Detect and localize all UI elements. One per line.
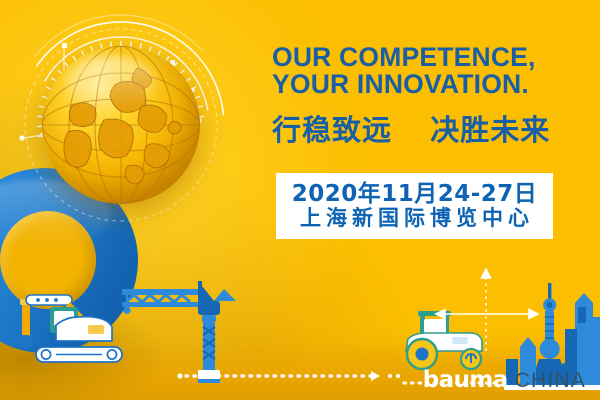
- logo-bauma-text: bauma: [423, 367, 508, 393]
- road-roller-icon: [406, 311, 482, 369]
- date-venue-box: 2020年11月24-27日 上海新国际博览中心: [276, 173, 553, 239]
- globe-sphere: [42, 46, 200, 204]
- globe-gloss: [67, 57, 155, 111]
- headline-block: OUR COMPETENCE, YOUR INNOVATION. 行稳致远 决胜…: [272, 44, 582, 149]
- tower-crane-icon: [122, 281, 236, 383]
- globe-graphic: [14, 12, 226, 228]
- headline-line-2: YOUR INNOVATION.: [272, 71, 582, 98]
- event-dates: 2020年11月24-27日: [292, 181, 538, 207]
- bauma-china-logo: bauma CHINA: [423, 367, 586, 393]
- headline-chinese: 行稳致远 决胜未来: [272, 107, 582, 149]
- headline-chinese-left: 行稳致远: [272, 113, 392, 147]
- excavator-icon: [16, 295, 122, 362]
- headline-chinese-right: 决胜未来: [430, 113, 550, 147]
- logo-china-text: CHINA: [515, 369, 586, 393]
- event-venue: 上海新国际博览中心: [295, 207, 534, 231]
- bauma-china-banner: OUR COMPETENCE, YOUR INNOVATION. 行稳致远 决胜…: [0, 0, 600, 400]
- headline-line-1: OUR COMPETENCE,: [272, 44, 582, 71]
